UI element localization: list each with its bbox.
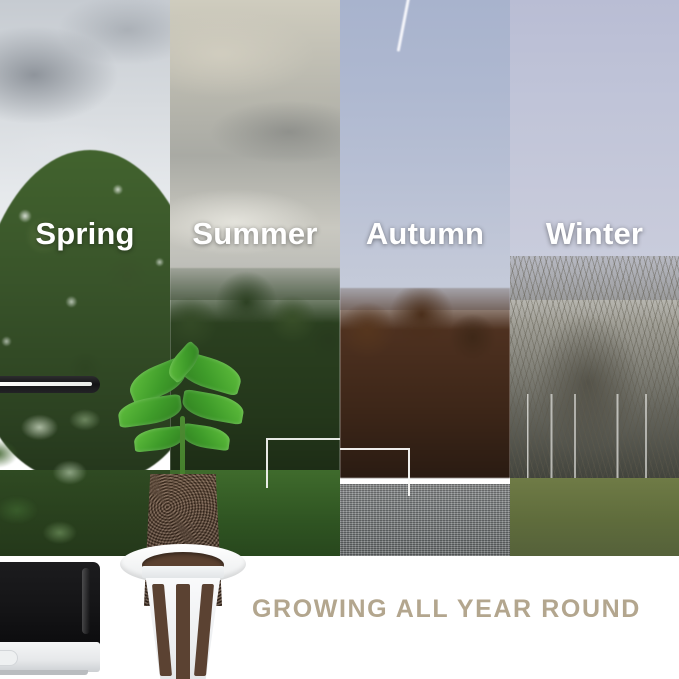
garden-foot bbox=[0, 670, 88, 675]
winter-sky bbox=[510, 0, 679, 300]
season-label-winter: Winter bbox=[510, 216, 679, 252]
season-label-summer: Summer bbox=[170, 216, 340, 252]
seedling-leaves bbox=[112, 352, 264, 472]
summer-sky bbox=[170, 0, 340, 300]
seedling-in-grow-basket bbox=[112, 352, 264, 679]
winter-ground bbox=[510, 478, 679, 556]
grow-basket-collar bbox=[142, 566, 224, 578]
summer-football-goal bbox=[266, 438, 340, 488]
season-panel-autumn: Autumn bbox=[340, 0, 510, 556]
season-label-spring: Spring bbox=[0, 216, 170, 252]
autumn-sky bbox=[340, 0, 510, 310]
leaf-mid-left bbox=[117, 394, 184, 429]
season-panel-winter: Winter bbox=[510, 0, 679, 556]
grow-basket-slot-center bbox=[176, 584, 190, 679]
product-lifestyle-image: Spring Summer Autumn Winter bbox=[0, 0, 679, 679]
winter-tree-trunks bbox=[510, 394, 679, 478]
garden-water-tank-body bbox=[0, 562, 100, 646]
garden-control-button bbox=[0, 650, 18, 666]
leaf-lower-left bbox=[133, 425, 185, 452]
tagline-growing-all-year-round: GROWING ALL YEAR ROUND bbox=[252, 595, 662, 624]
hydroponic-smart-garden bbox=[0, 376, 110, 679]
autumn-football-goal bbox=[340, 448, 410, 496]
season-label-autumn: Autumn bbox=[340, 216, 510, 252]
leaf-lower-right bbox=[181, 423, 232, 451]
growing-herbs bbox=[0, 386, 100, 574]
